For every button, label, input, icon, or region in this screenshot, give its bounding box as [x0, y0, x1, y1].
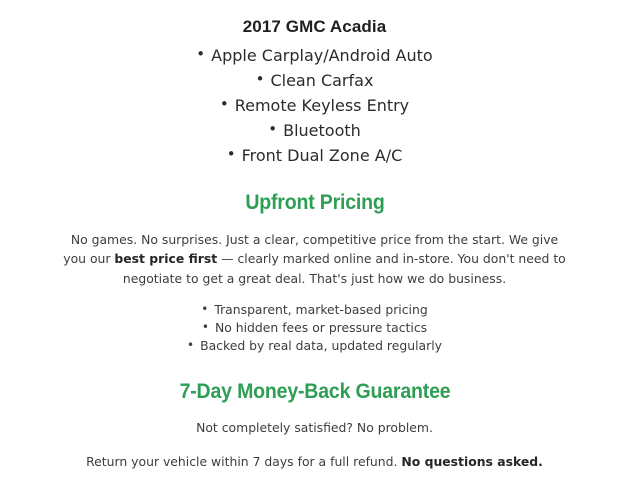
money-back-guarantee-section: 7-Day Money-Back Guarantee Not completel… — [59, 379, 571, 471]
list-item: •Remote Keyless Entry — [59, 93, 571, 118]
content-column: 2017 GMC Acadia •Apple Carplay/Android A… — [59, 0, 571, 471]
list-item: •Transparent, market-based pricing — [59, 301, 571, 319]
vehicle-summary-block: 2017 GMC Acadia •Apple Carplay/Android A… — [59, 0, 571, 168]
bullet-icon: • — [220, 97, 229, 112]
vehicle-details-page: 2017 GMC Acadia •Apple Carplay/Android A… — [0, 0, 629, 480]
list-item: •Front Dual Zone A/C — [59, 143, 571, 168]
bullet-icon: • — [201, 303, 208, 315]
bullet-icon: • — [227, 147, 236, 162]
upfront-pricing-section: Upfront Pricing No games. No surprises. … — [59, 190, 571, 355]
list-item: •Bluetooth — [59, 118, 571, 143]
guarantee-line-one: Not completely satisfied? No problem. — [59, 418, 571, 437]
paragraph-emphasis: best price first — [114, 251, 217, 266]
feature-label: Apple Carplay/Android Auto — [211, 46, 433, 65]
bullet-icon: • — [202, 321, 209, 333]
feature-label: Bluetooth — [283, 121, 361, 140]
bullet-icon: • — [196, 47, 205, 62]
bullet-icon: • — [256, 72, 265, 87]
vehicle-feature-list: •Apple Carplay/Android Auto •Clean Carfa… — [59, 43, 571, 168]
upfront-pricing-paragraph: No games. No surprises. Just a clear, co… — [59, 230, 571, 289]
guarantee-text-part1: Return your vehicle within 7 days for a … — [86, 454, 401, 469]
bullet-icon: • — [268, 122, 277, 137]
upfront-pricing-heading: Upfront Pricing — [76, 190, 552, 215]
guarantee-line-two: Return your vehicle within 7 days for a … — [59, 452, 571, 471]
feature-label: Clean Carfax — [270, 71, 373, 90]
list-item: •Clean Carfax — [59, 68, 571, 93]
page-title: 2017 GMC Acadia — [59, 17, 571, 37]
pricing-bullet-label: No hidden fees or pressure tactics — [215, 320, 427, 335]
feature-label: Front Dual Zone A/C — [242, 146, 403, 165]
list-item: •No hidden fees or pressure tactics — [59, 319, 571, 337]
list-item: •Backed by real data, updated regularly — [59, 337, 571, 355]
upfront-pricing-bullet-list: •Transparent, market-based pricing •No h… — [59, 301, 571, 355]
pricing-bullet-label: Transparent, market-based pricing — [214, 302, 427, 317]
feature-label: Remote Keyless Entry — [235, 96, 409, 115]
list-item: •Apple Carplay/Android Auto — [59, 43, 571, 68]
guarantee-heading: 7-Day Money-Back Guarantee — [76, 379, 552, 404]
pricing-bullet-label: Backed by real data, updated regularly — [200, 338, 442, 353]
bullet-icon: • — [187, 339, 194, 351]
guarantee-emphasis: No questions asked. — [401, 454, 542, 469]
